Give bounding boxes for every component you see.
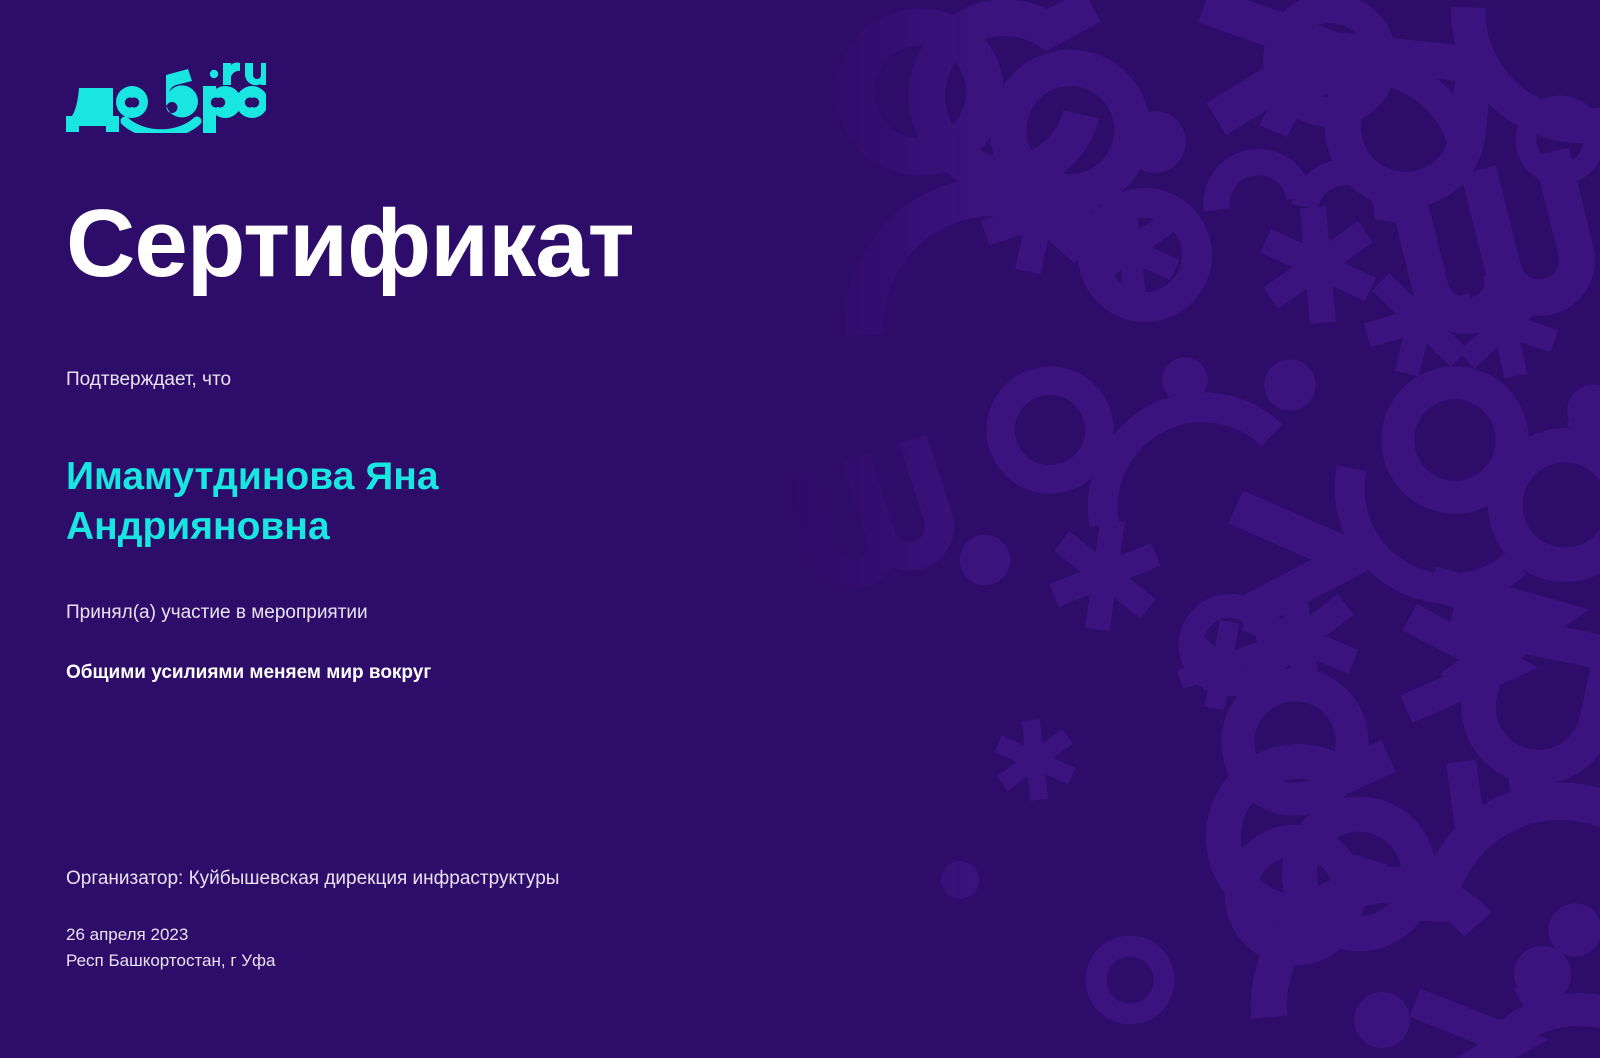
event-name: Общими усилиями меняем мир вокруг [66,660,826,687]
page-title: Сертификат [66,196,634,292]
dobro-ru-logo [66,57,266,133]
confirms-label: Подтверждает, что [66,367,231,393]
recipient-name: Имамутдинова Яна Андрияновна [66,452,686,552]
organizer-line: Организатор: Куйбышевская дирекция инфра… [66,866,559,892]
issue-date: 26 апреля 2023 [66,922,276,948]
issue-meta: 26 апреля 2023 Респ Башкортостан, г Уфа [66,922,276,975]
certificate-content: Сертификат Подтверждает, что Имамутдинов… [0,0,1600,1058]
issue-location: Респ Башкортостан, г Уфа [66,948,276,974]
certificate-page: Сертификат Подтверждает, что Имамутдинов… [0,0,1600,1058]
participation-label: Принял(а) участие в мероприятии [66,600,368,626]
